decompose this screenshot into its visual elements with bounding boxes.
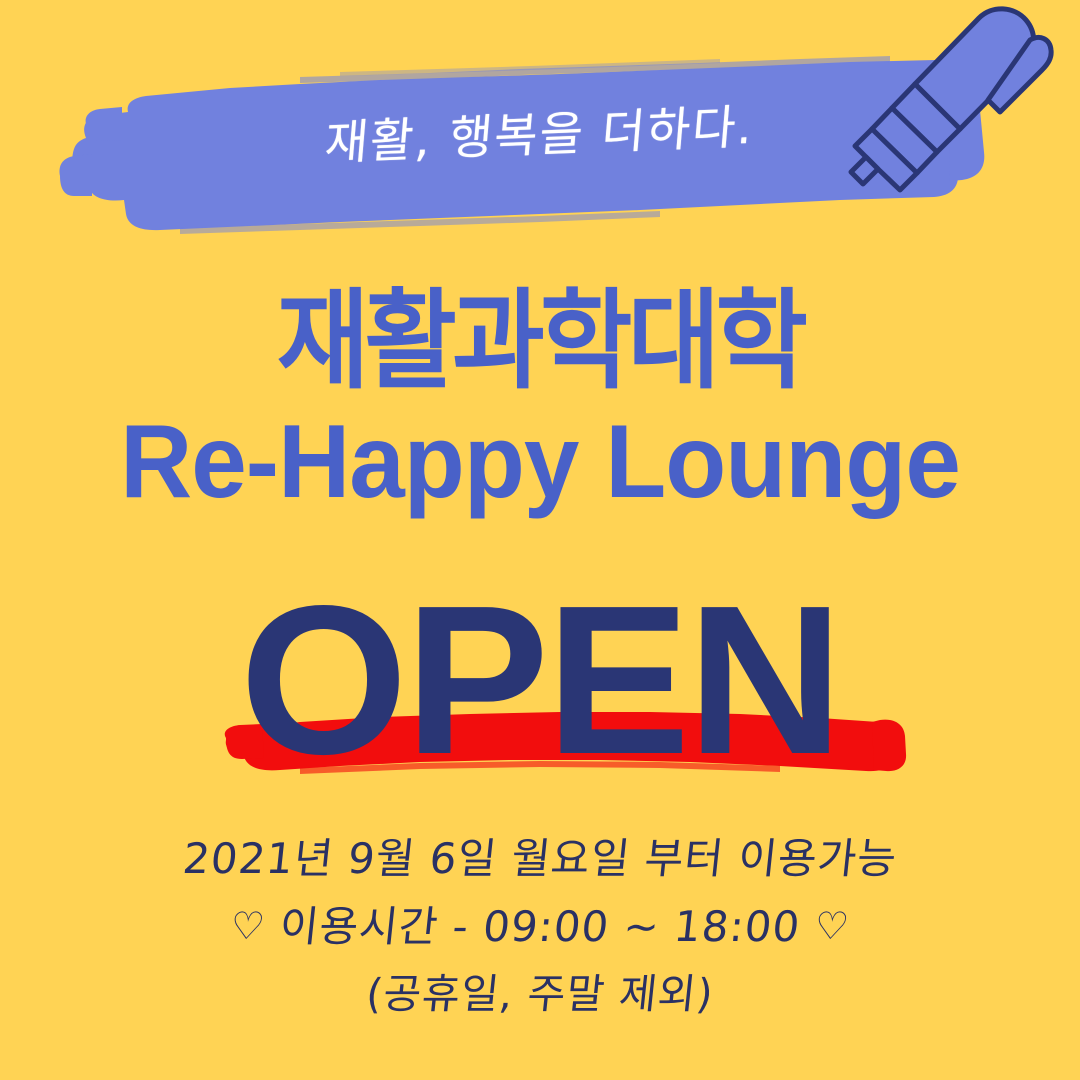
tagline-banner: 재활, 행복을 더하다. — [0, 0, 1080, 260]
detail-hours-line: ♡ 이용시간 - 09:00 ~ 18:00 ♡ — [0, 906, 1080, 948]
detail-note-line: (공휴일, 주말 제외) — [0, 974, 1080, 1015]
detail-date-line: 2021년 9월 6일 월요일 부터 이용가능 — [0, 838, 1080, 880]
poster-canvas: 재활, 행복을 더하다. 재활과학대학 Re-Happy Lounge OPEN… — [0, 0, 1080, 1080]
heart-icon-left: ♡ — [228, 904, 268, 948]
open-label: OPEN — [0, 574, 1080, 786]
open-announcement: OPEN — [0, 562, 1080, 812]
heart-icon-right: ♡ — [812, 904, 852, 948]
title-english: Re-Happy Lounge — [22, 410, 1059, 514]
details-block: 2021년 9월 6일 월요일 부터 이용가능 ♡ 이용시간 - 09:00 ~… — [0, 838, 1080, 1015]
headline-block: 재활과학대학 Re-Happy Lounge — [0, 288, 1080, 514]
title-korean: 재활과학대학 — [38, 288, 1042, 396]
hours-text: 이용시간 - 09:00 ~ 18:00 — [277, 902, 803, 951]
